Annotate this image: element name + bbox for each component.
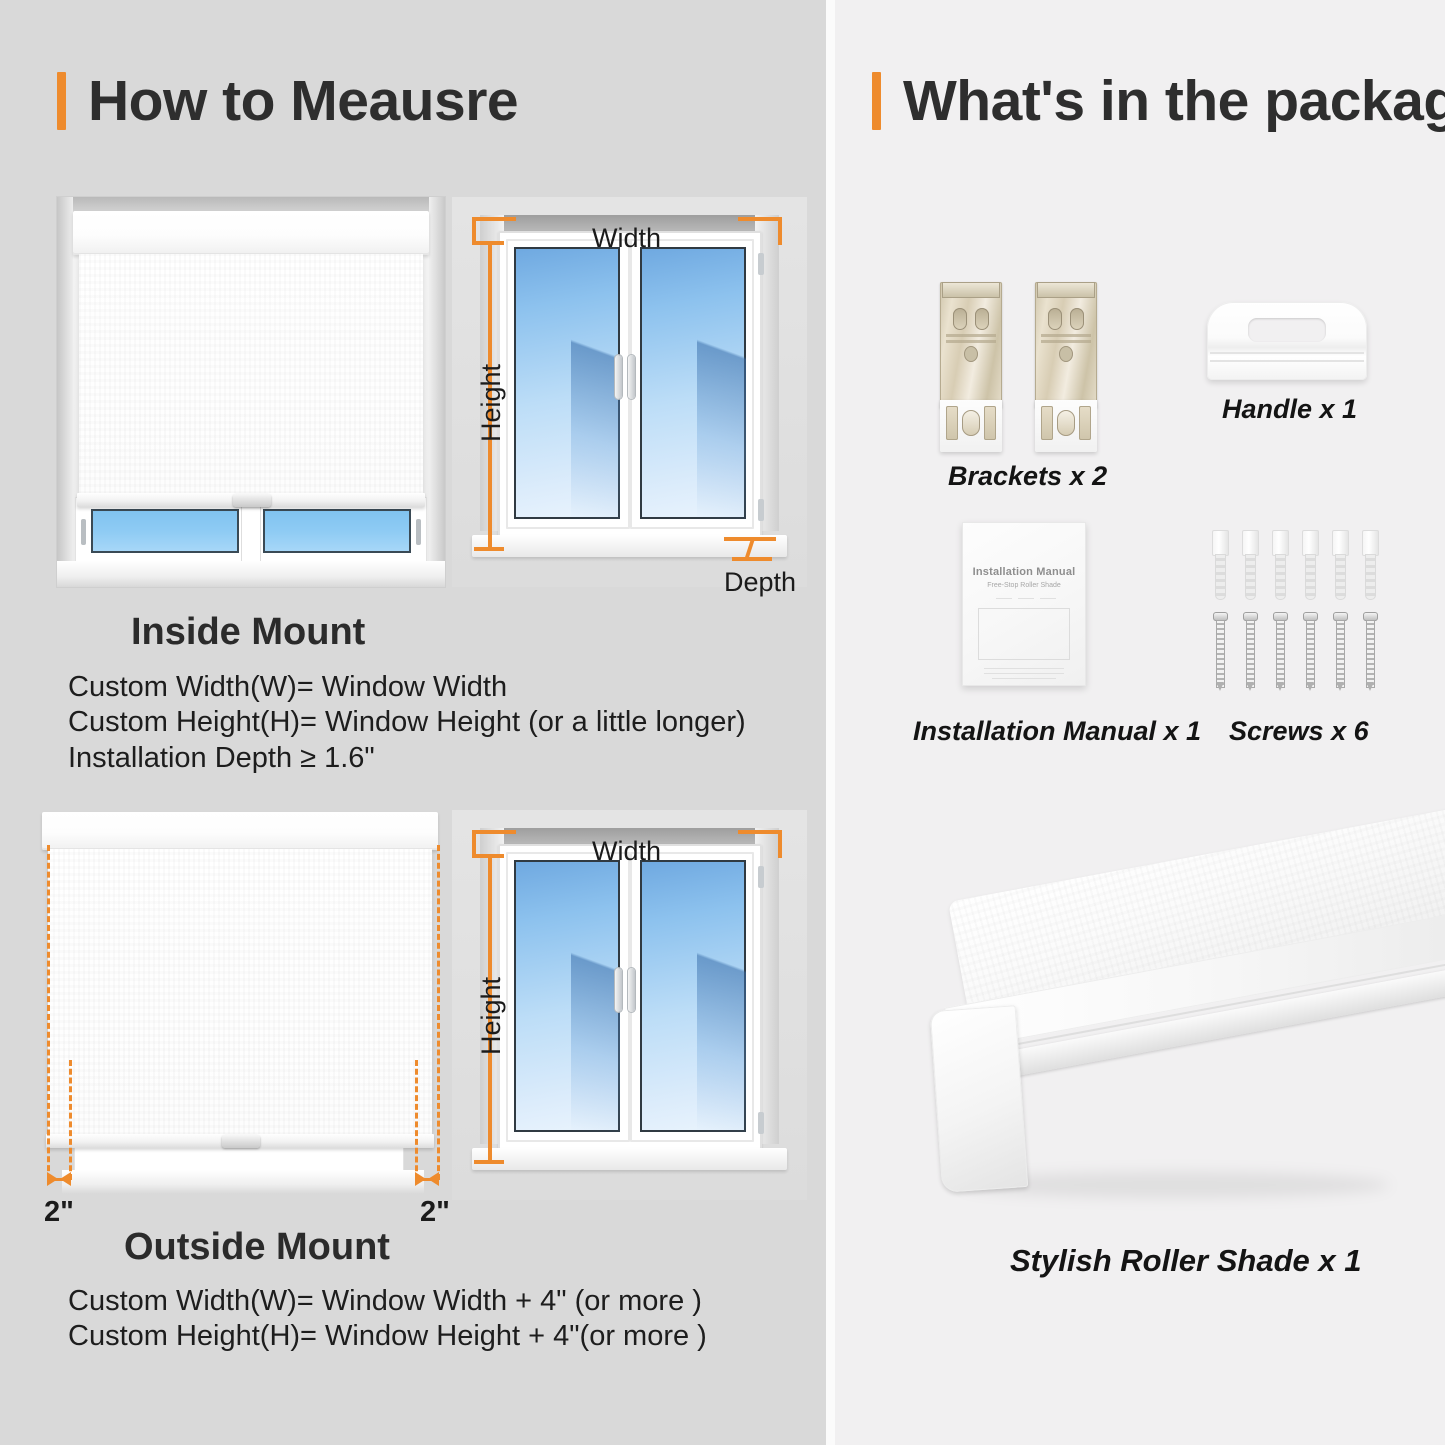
window-latch-top — [758, 866, 764, 888]
inside-mount-line-3: Installation Depth ≥ 1.6" — [68, 741, 746, 776]
left-panel-heading: How to Meausre — [57, 72, 518, 130]
window-glass-left — [514, 860, 620, 1132]
overhang-arrowhead-left-a — [47, 1172, 58, 1186]
outside-mount-line-2: Custom Height(H)= Window Height + 4"(or … — [68, 1319, 707, 1354]
window-latch-bottom — [758, 1112, 764, 1134]
window-reveal-right — [429, 197, 445, 587]
panel-divider — [826, 0, 835, 1445]
width-mark-right — [738, 217, 782, 221]
manual-cover-figure — [978, 608, 1070, 660]
height-tick-top — [474, 241, 504, 245]
window-reveal-left — [57, 197, 73, 587]
height-label: Height — [478, 364, 505, 442]
width-label: Width — [592, 838, 661, 865]
handle-groove-2 — [1210, 360, 1364, 362]
overhang-dash-left-outer — [47, 845, 50, 1180]
window-glass-left — [514, 247, 620, 519]
outside-mount-line-1: Custom Width(W)= Window Width + 4" (or m… — [68, 1284, 707, 1319]
roller-shade-label: Stylish Roller Shade x 1 — [1010, 1245, 1361, 1276]
infographic-page: How to Meausre — [0, 0, 1445, 1445]
left-panel-title: How to Meausre — [88, 73, 518, 130]
depth-label: Depth — [724, 569, 796, 596]
height-tick-top — [474, 854, 504, 858]
screw-icon — [1363, 612, 1378, 688]
accent-bar-right-icon — [872, 72, 881, 130]
wall-anchor-icon — [1242, 530, 1259, 600]
window-glass-right — [263, 509, 411, 553]
shade-pull-handle — [233, 494, 271, 507]
shade-pull-handle — [222, 1135, 260, 1148]
shade-cassette — [42, 812, 438, 850]
overhang-label-right: 2" — [420, 1198, 450, 1227]
width-mark-right — [738, 830, 782, 834]
shade-fabric — [48, 849, 432, 1135]
shade-end-cap — [930, 1005, 1028, 1193]
width-tick-right — [778, 830, 782, 858]
overhang-arrowhead-right-a — [415, 1172, 426, 1186]
inside-mount-measure-illustration: Width Height Depth — [452, 197, 807, 587]
screw-icon — [1243, 612, 1258, 688]
inside-mount-line-2: Custom Height(H)= Window Height (or a li… — [68, 705, 746, 740]
height-tick-bottom — [474, 547, 504, 551]
handle-label: Handle x 1 — [1222, 396, 1357, 423]
screw-icon — [1333, 612, 1348, 688]
outside-mount-text: Custom Width(W)= Window Width + 4" (or m… — [68, 1284, 707, 1355]
screw-icon — [1303, 612, 1318, 688]
outside-mount-title: Outside Mount — [124, 1228, 390, 1266]
window-handle-left — [615, 968, 622, 1012]
manual-cover-title: Installation Manual — [962, 566, 1086, 578]
wall-anchor-icon — [1332, 530, 1349, 600]
window-glass-right — [640, 247, 746, 519]
inside-mount-line-1: Custom Width(W)= Window Width — [68, 670, 746, 705]
window-glass-right — [640, 860, 746, 1132]
brackets-label: Brackets x 2 — [948, 463, 1107, 490]
wall-anchor-icon — [1362, 530, 1379, 600]
overhang-dash-left-inner — [69, 1060, 72, 1180]
shade-fabric — [79, 254, 423, 494]
wall-anchor-icon — [1212, 530, 1229, 600]
window-handle-right — [628, 355, 635, 399]
manual-label: Installation Manual x 1 — [913, 718, 1201, 745]
window-latch-top — [758, 253, 764, 275]
inside-mount-text: Custom Width(W)= Window Width Custom Hei… — [68, 670, 746, 776]
outside-mount-measure-illustration: Width Height — [452, 810, 807, 1200]
window-mullion — [241, 497, 261, 569]
height-label: Height — [478, 977, 505, 1055]
overhang-arrowhead-right-b — [428, 1172, 439, 1186]
screw-icon — [1213, 612, 1228, 688]
width-mark-left — [472, 830, 516, 834]
handle-groove-1 — [1210, 352, 1364, 354]
wall-anchor-icon — [1302, 530, 1319, 600]
overhang-dash-right-outer — [437, 845, 440, 1180]
screws-label: Screws x 6 — [1229, 718, 1369, 745]
overhang-dash-right-inner — [415, 1060, 418, 1180]
window-handle-right — [628, 968, 635, 1012]
window-sill — [472, 1148, 787, 1170]
window-handle-left — [615, 355, 622, 399]
right-panel-title: What's in the package — [903, 73, 1445, 130]
height-tick-bottom — [474, 1160, 504, 1164]
bracket-icon — [940, 282, 1002, 442]
window-hinge-right — [416, 519, 421, 545]
width-label: Width — [592, 225, 661, 252]
width-mark-left — [472, 217, 516, 221]
wall-anchor-icon — [1272, 530, 1289, 600]
window-latch-bottom — [758, 499, 764, 521]
inside-mount-title: Inside Mount — [131, 613, 365, 651]
manual-icon: Installation Manual Free-Stop Roller Sha… — [962, 522, 1086, 686]
inside-mount-shade-illustration — [57, 197, 445, 587]
window-sill — [62, 1170, 424, 1194]
window-hinge-left — [81, 519, 86, 545]
manual-cover-subtitle: Free-Stop Roller Shade — [962, 582, 1086, 589]
width-tick-right — [778, 217, 782, 245]
roller-shade-icon — [900, 880, 1445, 1210]
shade-cassette — [73, 211, 429, 255]
overhang-arrowhead-left-b — [60, 1172, 71, 1186]
handle-slot-icon — [1248, 318, 1326, 342]
window-glass-left — [91, 509, 239, 553]
bracket-icon — [1035, 282, 1097, 442]
overhang-label-left: 2" — [44, 1198, 74, 1227]
accent-bar-left-icon — [57, 72, 66, 130]
screw-icon — [1273, 612, 1288, 688]
outside-mount-shade-illustration — [38, 808, 448, 1200]
window-sill — [57, 561, 445, 587]
depth-mark-bottom — [732, 557, 772, 561]
right-panel-heading: What's in the package — [872, 72, 1445, 130]
